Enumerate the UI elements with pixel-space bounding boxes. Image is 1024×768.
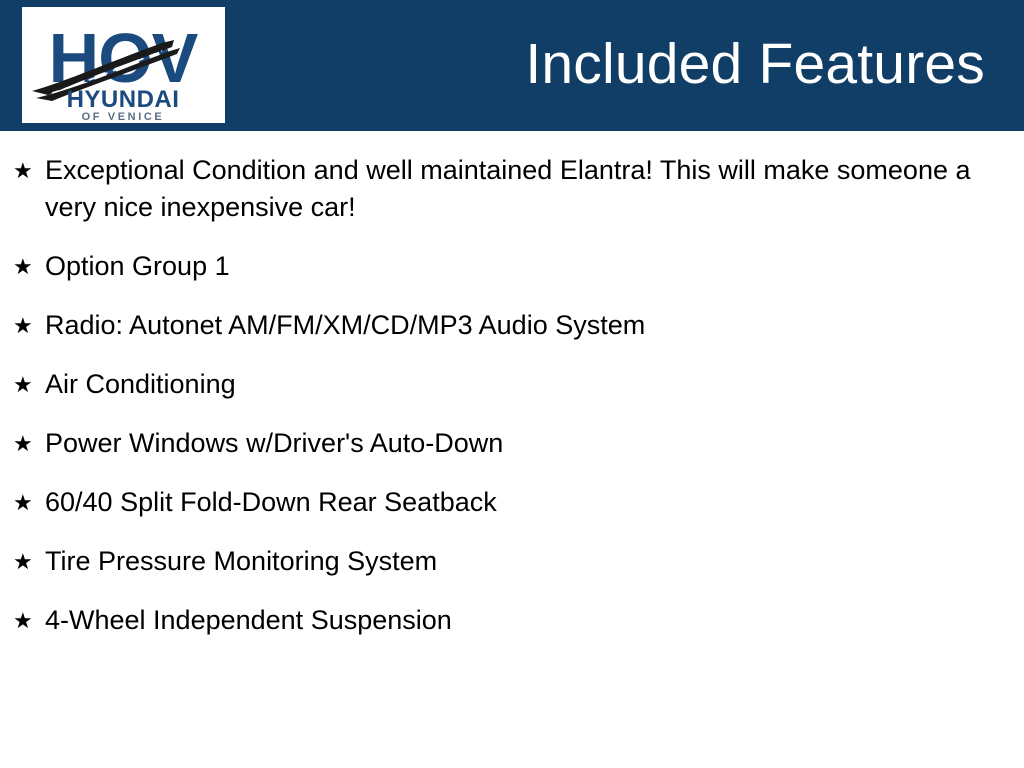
list-item: ★ Option Group 1: [0, 248, 1024, 285]
dealership-logo: HOV HYUNDAI OF VENICE: [22, 7, 225, 123]
list-item-label: Power Windows w/Driver's Auto-Down: [45, 425, 985, 462]
star-icon: ★: [13, 366, 45, 403]
star-icon: ★: [13, 307, 45, 344]
list-item-label: Air Conditioning: [45, 366, 985, 403]
hov-logo-graphic: HOV HYUNDAI OF VENICE: [22, 7, 225, 123]
list-item: ★ 4-Wheel Independent Suspension: [0, 602, 1024, 639]
slide: HOV HYUNDAI OF VENICE Included Features …: [0, 0, 1024, 768]
list-item: ★ Air Conditioning: [0, 366, 1024, 403]
star-icon: ★: [13, 602, 45, 639]
svg-text:OF VENICE: OF VENICE: [82, 111, 165, 123]
list-item: ★ Power Windows w/Driver's Auto-Down: [0, 425, 1024, 462]
page-title: Included Features: [525, 28, 985, 100]
svg-text:HYUNDAI: HYUNDAI: [67, 86, 180, 113]
features-list: ★ Exceptional Condition and well maintai…: [0, 131, 1024, 661]
list-item-label: Tire Pressure Monitoring System: [45, 543, 985, 580]
list-item: ★ 60/40 Split Fold-Down Rear Seatback: [0, 484, 1024, 521]
list-item-label: Option Group 1: [45, 248, 985, 285]
list-item: ★ Tire Pressure Monitoring System: [0, 543, 1024, 580]
list-item-label: 60/40 Split Fold-Down Rear Seatback: [45, 484, 985, 521]
list-item-label: 4-Wheel Independent Suspension: [45, 602, 985, 639]
list-item-label: Radio: Autonet AM/FM/XM/CD/MP3 Audio Sys…: [45, 307, 985, 344]
list-item: ★ Exceptional Condition and well maintai…: [0, 152, 1024, 226]
list-item-label: Exceptional Condition and well maintaine…: [45, 152, 985, 226]
star-icon: ★: [13, 543, 45, 580]
list-item: ★ Radio: Autonet AM/FM/XM/CD/MP3 Audio S…: [0, 307, 1024, 344]
star-icon: ★: [13, 484, 45, 521]
star-icon: ★: [13, 425, 45, 462]
star-icon: ★: [13, 248, 45, 285]
star-icon: ★: [13, 152, 45, 189]
